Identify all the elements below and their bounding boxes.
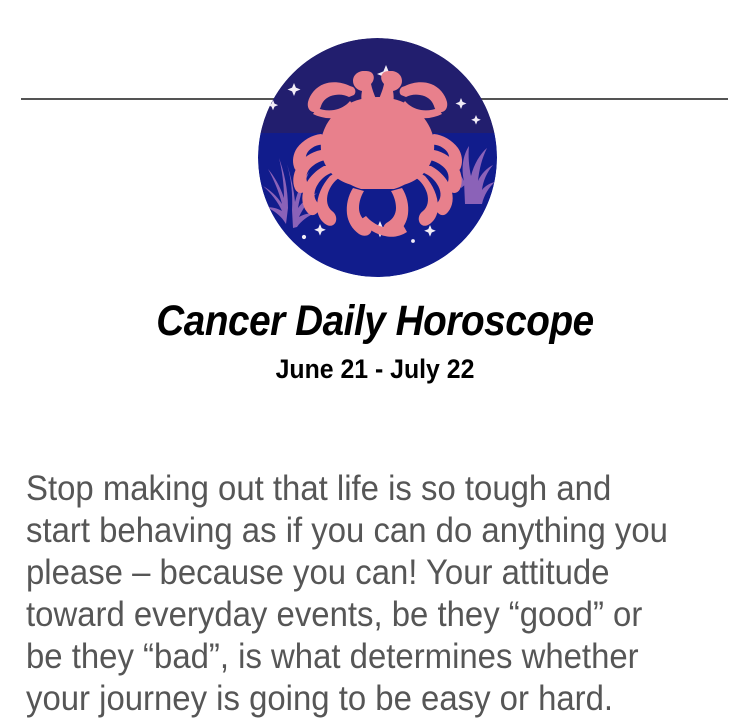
cancer-crab-zodiac-illustration: [258, 38, 497, 277]
cancer-zodiac-badge: [258, 38, 497, 277]
zodiac-date-range: June 21 - July 22: [30, 353, 720, 385]
header-block: Cancer Daily Horoscope June 21 - July 22: [0, 296, 750, 385]
horoscope-body-text: Stop making out that life is so tough an…: [26, 468, 675, 720]
page-title: Cancer Daily Horoscope: [38, 296, 713, 346]
